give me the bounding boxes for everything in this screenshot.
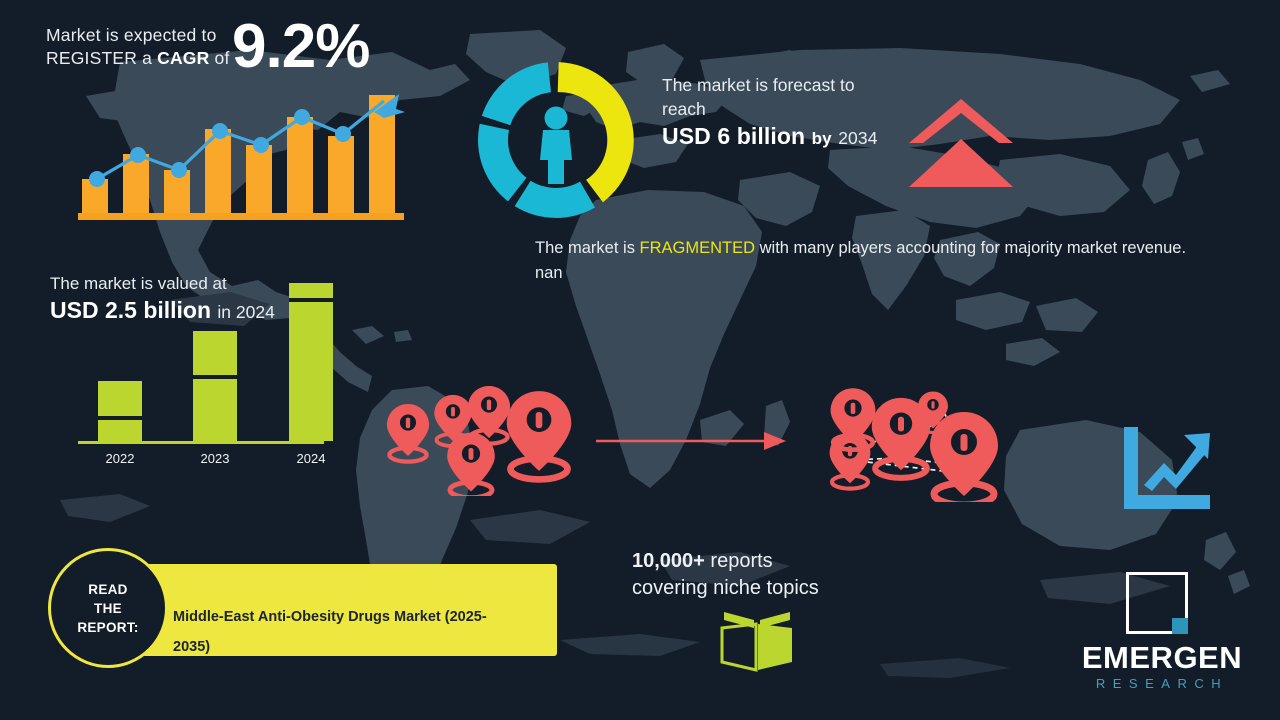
badge-line-3: REPORT: xyxy=(77,620,138,635)
right-arrow-icon xyxy=(596,428,786,454)
double-up-arrow-icon xyxy=(905,95,1017,191)
connected-location-pin-network-icon xyxy=(802,386,1014,502)
valued-label: The market is valued at xyxy=(50,274,227,293)
cagr-line-2-post: of xyxy=(209,48,229,68)
market-value-bar-chart: 2022 2023 2024 xyxy=(78,296,336,466)
book-icon xyxy=(718,610,796,672)
report-banner[interactable]: Middle-East Anti-Obesity Drugs Market (2… xyxy=(142,564,557,656)
cagr-value: 9.2% xyxy=(232,16,369,78)
forecast-value: USD 6 billion xyxy=(662,123,805,149)
logo-corner-accent xyxy=(1172,618,1188,634)
logo-subtitle: RESEARCH xyxy=(1062,676,1262,691)
reports-line-1-rest: reports xyxy=(705,550,773,572)
green-bar xyxy=(98,381,142,441)
badge-line-2: THE xyxy=(94,601,122,616)
cagr-label: Market is expected to REGISTER a CAGR of xyxy=(46,24,256,70)
fragmentation-statement: The market is FRAGMENTED with many playe… xyxy=(535,236,1207,286)
forecast-line-1: The market is forecast to xyxy=(662,75,855,95)
trend-line-overlay xyxy=(78,92,408,220)
donut-chart-person-icon xyxy=(468,52,644,228)
chart-baseline xyxy=(78,441,324,444)
cagr-line-2-bold: CAGR xyxy=(157,48,209,68)
reports-count: 10,000+ xyxy=(632,550,705,572)
green-bar-label: 2023 xyxy=(185,451,245,466)
bar-divider xyxy=(289,298,333,302)
green-bar-label: 2024 xyxy=(281,451,341,466)
forecast-line-2: reach xyxy=(662,99,706,119)
bar-divider xyxy=(193,375,237,379)
emergen-research-logo[interactable]: EMERGEN RESEARCH xyxy=(1062,572,1262,698)
growth-bar-chart xyxy=(78,92,408,220)
badge-line-1: READ xyxy=(88,582,127,597)
read-the-report-badge[interactable]: READTHEREPORT: xyxy=(48,548,168,668)
green-bar xyxy=(289,283,333,441)
frag-highlight: FRAGMENTED xyxy=(640,239,756,257)
green-bar-label: 2022 xyxy=(90,451,150,466)
green-bar xyxy=(193,331,237,441)
growth-chart-icon xyxy=(1118,423,1214,513)
reports-line-2: covering niche topics xyxy=(632,577,819,599)
report-title: Middle-East Anti-Obesity Drugs Market (2… xyxy=(173,602,523,662)
reports-count-block: 10,000+ reports covering niche topics xyxy=(632,548,922,602)
forecast-by-label: by xyxy=(812,129,832,148)
forecast-year: 2034 xyxy=(838,128,877,148)
cagr-line-2-pre: REGISTER a xyxy=(46,48,157,68)
location-pin-cluster-icon xyxy=(382,386,582,496)
logo-name: EMERGEN xyxy=(1062,640,1262,676)
read-badge-text: READTHEREPORT: xyxy=(77,580,138,637)
infographic-canvas: Market is expected to REGISTER a CAGR of… xyxy=(0,0,1280,720)
bar-divider xyxy=(98,416,142,420)
frag-pre: The market is xyxy=(535,239,640,257)
cagr-line-1: Market is expected to xyxy=(46,25,217,45)
